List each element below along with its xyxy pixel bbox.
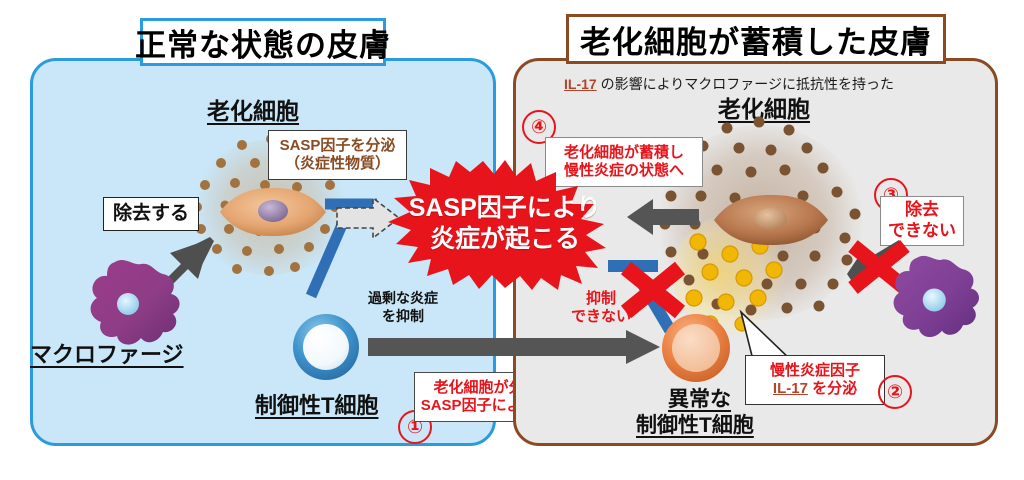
step-2-line2-tail: を分泌 [808, 380, 857, 397]
cannot-suppress-line1: 抑制 [571, 290, 631, 308]
step-2-callout-pointer [735, 250, 825, 370]
left-tcell-label: 制御性T細胞 [255, 388, 378, 420]
burst-text: SASP因子により 炎症が起こる [395, 193, 615, 255]
right-macrophage [888, 252, 994, 348]
arrow-left-icon [627, 198, 699, 236]
burst-line1: SASP因子により [395, 193, 615, 224]
left-suppress-text: 過剰な炎症 を抑制 [368, 290, 438, 325]
cannot-suppress-text: 抑制 できない [571, 290, 631, 327]
left-macrophage-label: マクロファージ [30, 337, 184, 369]
left-suppress-line2: を抑制 [368, 308, 438, 326]
cannot-suppress-line2: できない [571, 308, 631, 326]
left-senescent-cell-label: 老化細胞 [207, 92, 299, 126]
arrow-right-icon-tcell-transition [368, 330, 660, 364]
left-suppress-line1: 過剰な炎症 [368, 290, 438, 308]
panel-left-title: 正常な状態の皮膚 [140, 18, 386, 66]
step-2-line2: IL-17 を分泌 [773, 380, 857, 398]
step-2-il17: IL-17 [773, 380, 808, 397]
left-remove-box-label: 除去する [113, 202, 189, 225]
step-3-line1: 除去 [905, 200, 939, 221]
right-subnote-il17: IL-17 [564, 76, 597, 92]
left-sasp-box-line2: （炎症性物質） [285, 155, 390, 173]
left-remove-box: 除去する [103, 197, 199, 231]
right-senescent-cell [712, 195, 830, 245]
abnormal-tcell-label-line2: 制御性T細胞 [636, 409, 754, 439]
step-2-line1: 慢性炎症因子 [770, 362, 860, 380]
burst-line2: 炎症が起こる [395, 224, 615, 255]
abnormal-regulatory-tcell [660, 312, 732, 384]
panel-right-title: 老化細胞が蓄積した皮膚 [566, 14, 946, 64]
left-sasp-box-line1: SASP因子を分泌 [280, 137, 396, 155]
step-2-badge: ② [878, 375, 912, 409]
diagram-canvas: 正常な状態の皮膚 老化細胞 SASP因子を分泌 [0, 0, 1024, 480]
step-2-box: 慢性炎症因子 IL-17 を分泌 [745, 355, 885, 405]
left-regulatory-tcell [291, 312, 361, 382]
